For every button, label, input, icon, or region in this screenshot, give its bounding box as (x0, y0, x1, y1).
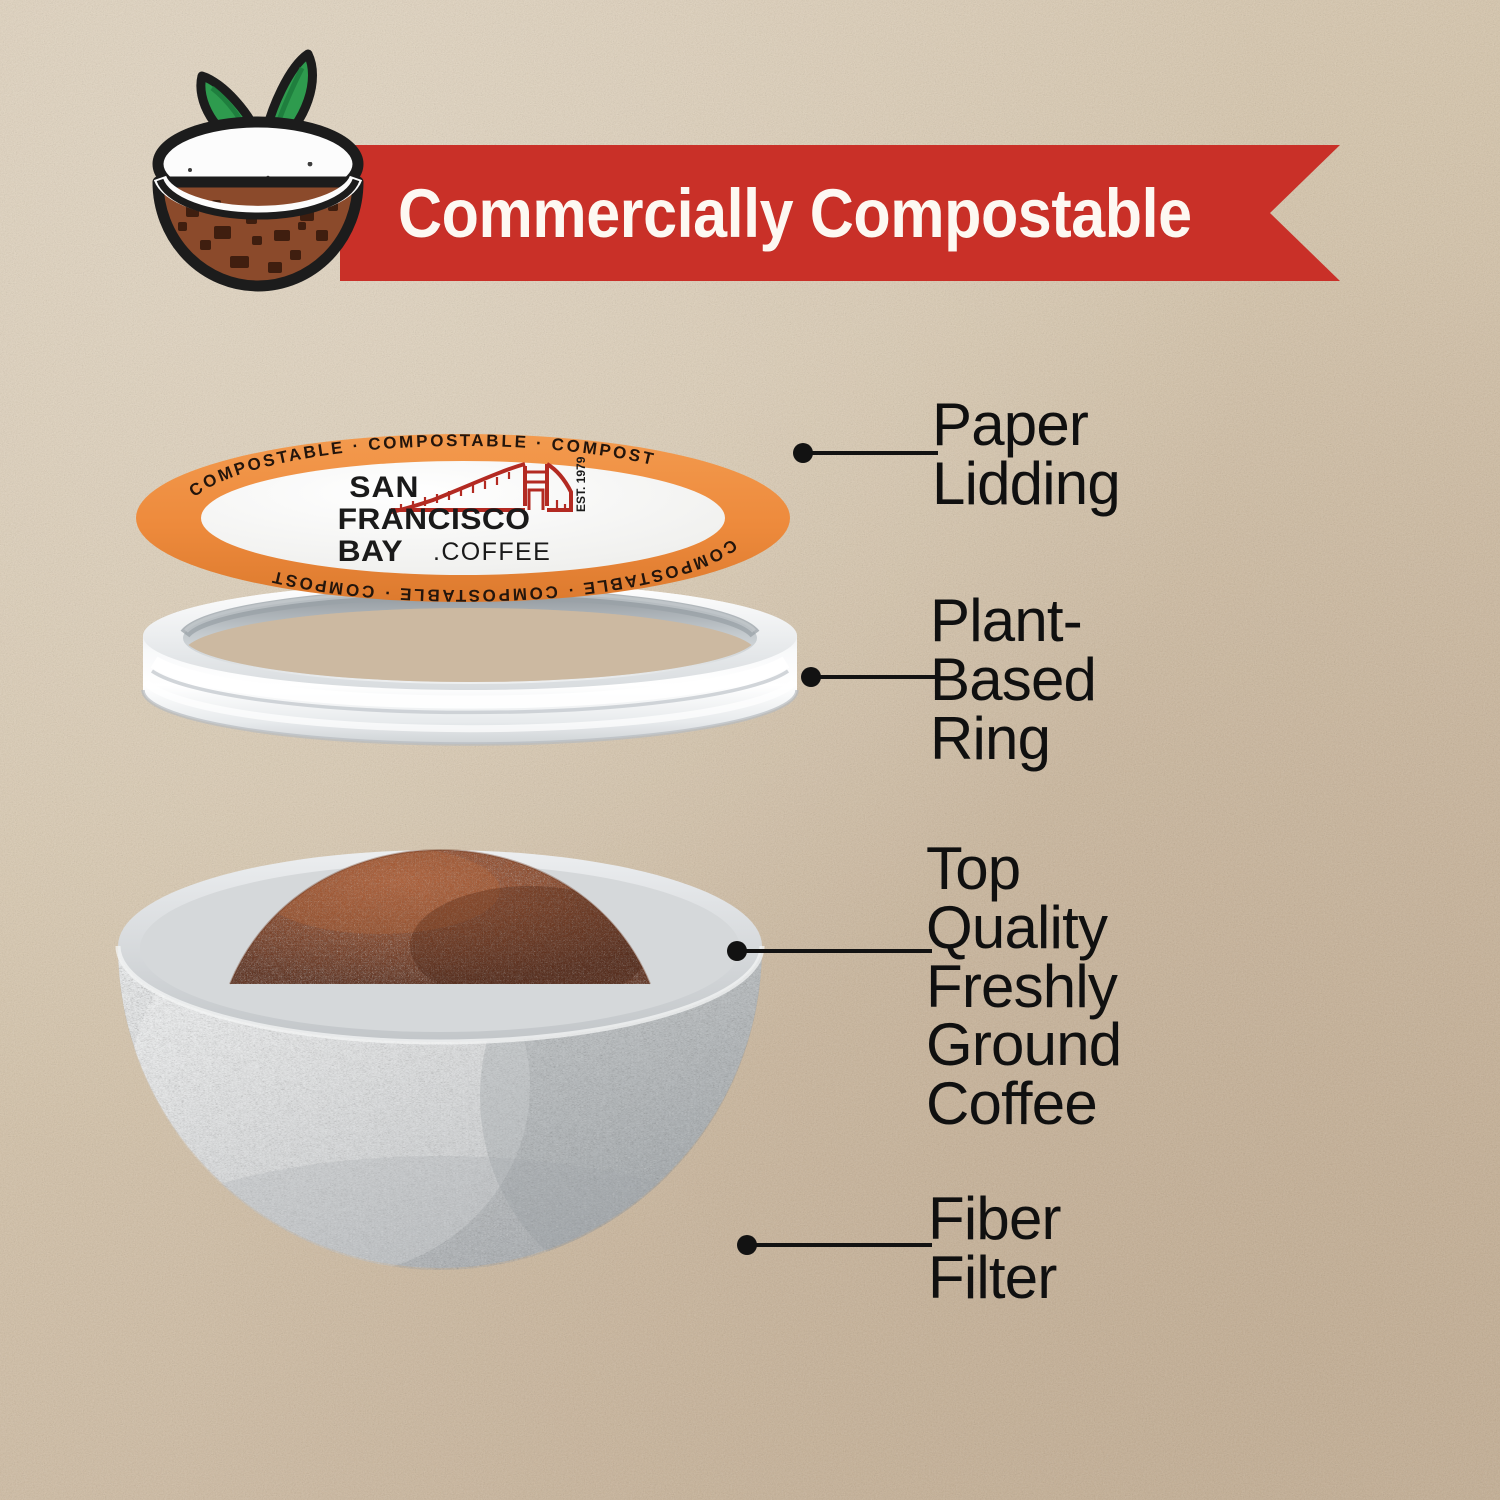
callout-fiber-filter-label: Fiber Filter (928, 1190, 1061, 1308)
svg-text:EST. 1979: EST. 1979 (574, 456, 588, 512)
banner-title: Commercially Compostable (398, 145, 1156, 281)
leader-line (792, 440, 942, 466)
callout-plant-based-ring-label: Plant-Based Ring (930, 592, 1096, 768)
callout-paper-lidding-label: Paper Lidding (932, 396, 1120, 514)
plant-based-ring (130, 578, 810, 768)
svg-text:BAY: BAY (338, 534, 403, 568)
compostable-banner: Commercially Compostable (340, 145, 1340, 281)
svg-text:FRANCISCO: FRANCISCO (338, 502, 531, 536)
leader-line (736, 1232, 936, 1258)
fiber-filter-cup (100, 836, 780, 1326)
leader-line (726, 938, 936, 964)
paper-lid: COMPOSTABLE · COMPOSTABLE · COMPOST COMP… (133, 432, 793, 604)
svg-text:SAN: SAN (349, 470, 419, 504)
sprouting-coconut-icon (148, 30, 368, 305)
leader-line (800, 664, 940, 690)
callout-ground-coffee-label: Top Quality Freshly Ground Coffee (926, 840, 1121, 1134)
svg-text:.COFFEE: .COFFEE (433, 538, 551, 566)
lid-established-text: EST. 1979 (574, 456, 588, 512)
